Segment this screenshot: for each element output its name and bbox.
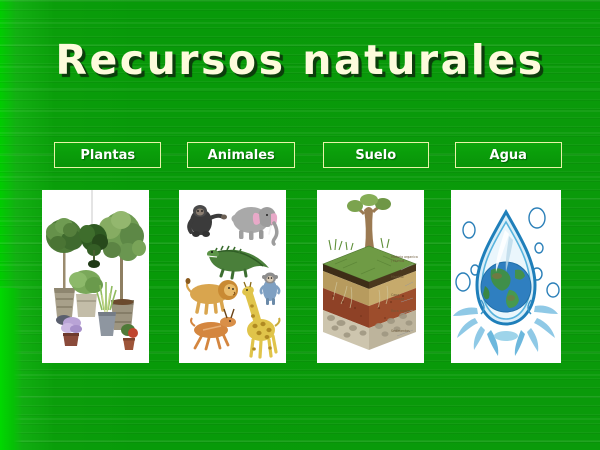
potted-plants-photo xyxy=(42,190,149,363)
water-drop-earth-illustration xyxy=(451,190,561,363)
soil-label-roca: Roca madre xyxy=(391,309,410,313)
slide-canvas: Recursos naturales Plantas Animales Suel… xyxy=(0,0,600,450)
image-panel-suelo[interactable]: Materia organica / Humus Mantillo Capa a… xyxy=(317,190,424,363)
background-left-highlight xyxy=(0,288,22,450)
soil-label-humus-2: / Humus xyxy=(391,259,405,263)
soil-label-capa-2: alterada xyxy=(391,297,404,301)
category-label-row: Plantas Animales Suelo Agua xyxy=(42,142,562,168)
category-label-suelo[interactable]: Suelo xyxy=(323,142,429,168)
category-image-row: Materia organica / Humus Mantillo Capa a… xyxy=(42,190,562,366)
soil-label-mantillo: Mantillo xyxy=(391,275,404,279)
image-panel-plantas[interactable] xyxy=(42,190,149,363)
image-panel-animales[interactable] xyxy=(179,190,286,363)
image-panel-agua[interactable] xyxy=(451,190,561,363)
soil-profile-diagram: Materia organica / Humus Mantillo Capa a… xyxy=(317,190,424,363)
category-label-agua[interactable]: Agua xyxy=(455,142,562,168)
wild-animals-illustration xyxy=(179,190,286,363)
category-label-animales[interactable]: Animales xyxy=(187,142,294,168)
page-title: Recursos naturales xyxy=(0,36,600,84)
category-label-plantas[interactable]: Plantas xyxy=(54,142,161,168)
soil-label-sedimentos: Sedimentos xyxy=(391,329,410,333)
